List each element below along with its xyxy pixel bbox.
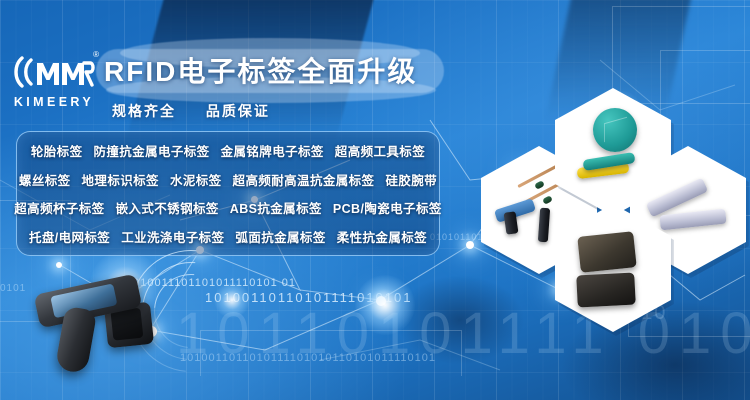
teal-disc-tag (593, 108, 637, 152)
tag-item[interactable]: 嵌入式不锈钢标签 (116, 198, 219, 217)
glow-spot (355, 275, 415, 335)
page-title: RFID电子标签全面升级 (104, 52, 440, 92)
tag-item[interactable]: 超高频工具标签 (335, 141, 425, 160)
tag-item[interactable]: 超高频杯子标签 (14, 198, 104, 217)
tag-item[interactable]: 超高频耐高温抗金属标签 (233, 170, 375, 189)
lavender-bar-tag-lower (659, 209, 726, 231)
network-node (466, 241, 474, 249)
tag-item[interactable]: 防撞抗金属电子标签 (93, 141, 209, 160)
black-abs-tag (576, 273, 636, 308)
kimeery-logo-icon: ® (10, 52, 98, 92)
tag-item[interactable]: 轮胎标签 (31, 141, 83, 160)
tag-item[interactable]: 金属铭牌电子标签 (221, 141, 324, 160)
subtitle-part-2: 品质保证 (206, 103, 270, 119)
tag-item[interactable]: 螺丝标签 (19, 170, 71, 189)
page-subtitle: 规格齐全 品质保证 (112, 101, 294, 121)
tag-row: 托盘/电网标签 工业洗涤电子标签 弧面抗金属标签 柔性抗金属标签 (17, 227, 439, 246)
registered-trademark-icon: ® (93, 50, 99, 59)
product-tag-panel: 轮胎标签 防撞抗金属电子标签 金属铭牌电子标签 超高频工具标签 螺丝标签 地理标… (16, 131, 440, 256)
rfid-promo-banner: 10110101111 0101 10100110110101111010101… (0, 0, 750, 400)
handheld-rfid-reader[interactable] (28, 278, 164, 382)
brand-logo[interactable]: ® KIMEERY (10, 52, 98, 118)
tag-item[interactable]: 水泥标签 (170, 170, 222, 189)
tag-item[interactable]: ABS抗金属标签 (230, 198, 322, 217)
tag-row: 轮胎标签 防撞抗金属电子标签 金属铭牌电子标签 超高频工具标签 (17, 141, 439, 160)
brown-abs-tag (577, 231, 636, 273)
tag-item[interactable]: 工业洗涤电子标签 (121, 227, 224, 246)
tag-row: 超高频杯子标签 嵌入式不锈钢标签 ABS抗金属标签 PCB/陶瓷电子标签 (17, 198, 439, 217)
subtitle-part-1: 规格齐全 (112, 103, 176, 119)
tag-row: 螺丝标签 地理标识标签 水泥标签 超高频耐高温抗金属标签 硅胶腕带 (17, 170, 439, 189)
tag-item[interactable]: PCB/陶瓷电子标签 (333, 198, 442, 217)
tag-item[interactable]: 硅胶腕带 (385, 170, 437, 189)
network-node (56, 262, 62, 268)
glass-tube-tag-chip (534, 180, 545, 190)
tag-item[interactable]: 地理标识标签 (82, 170, 159, 189)
tag-item[interactable]: 托盘/电网标签 (29, 227, 110, 246)
black-cylinder-tag (538, 208, 550, 243)
tag-item[interactable]: 弧面抗金属标签 (235, 227, 325, 246)
brand-name: KIMEERY (10, 95, 98, 109)
glass-tube-tag-chip (542, 195, 553, 205)
tag-item[interactable]: 柔性抗金属标签 (337, 227, 427, 246)
